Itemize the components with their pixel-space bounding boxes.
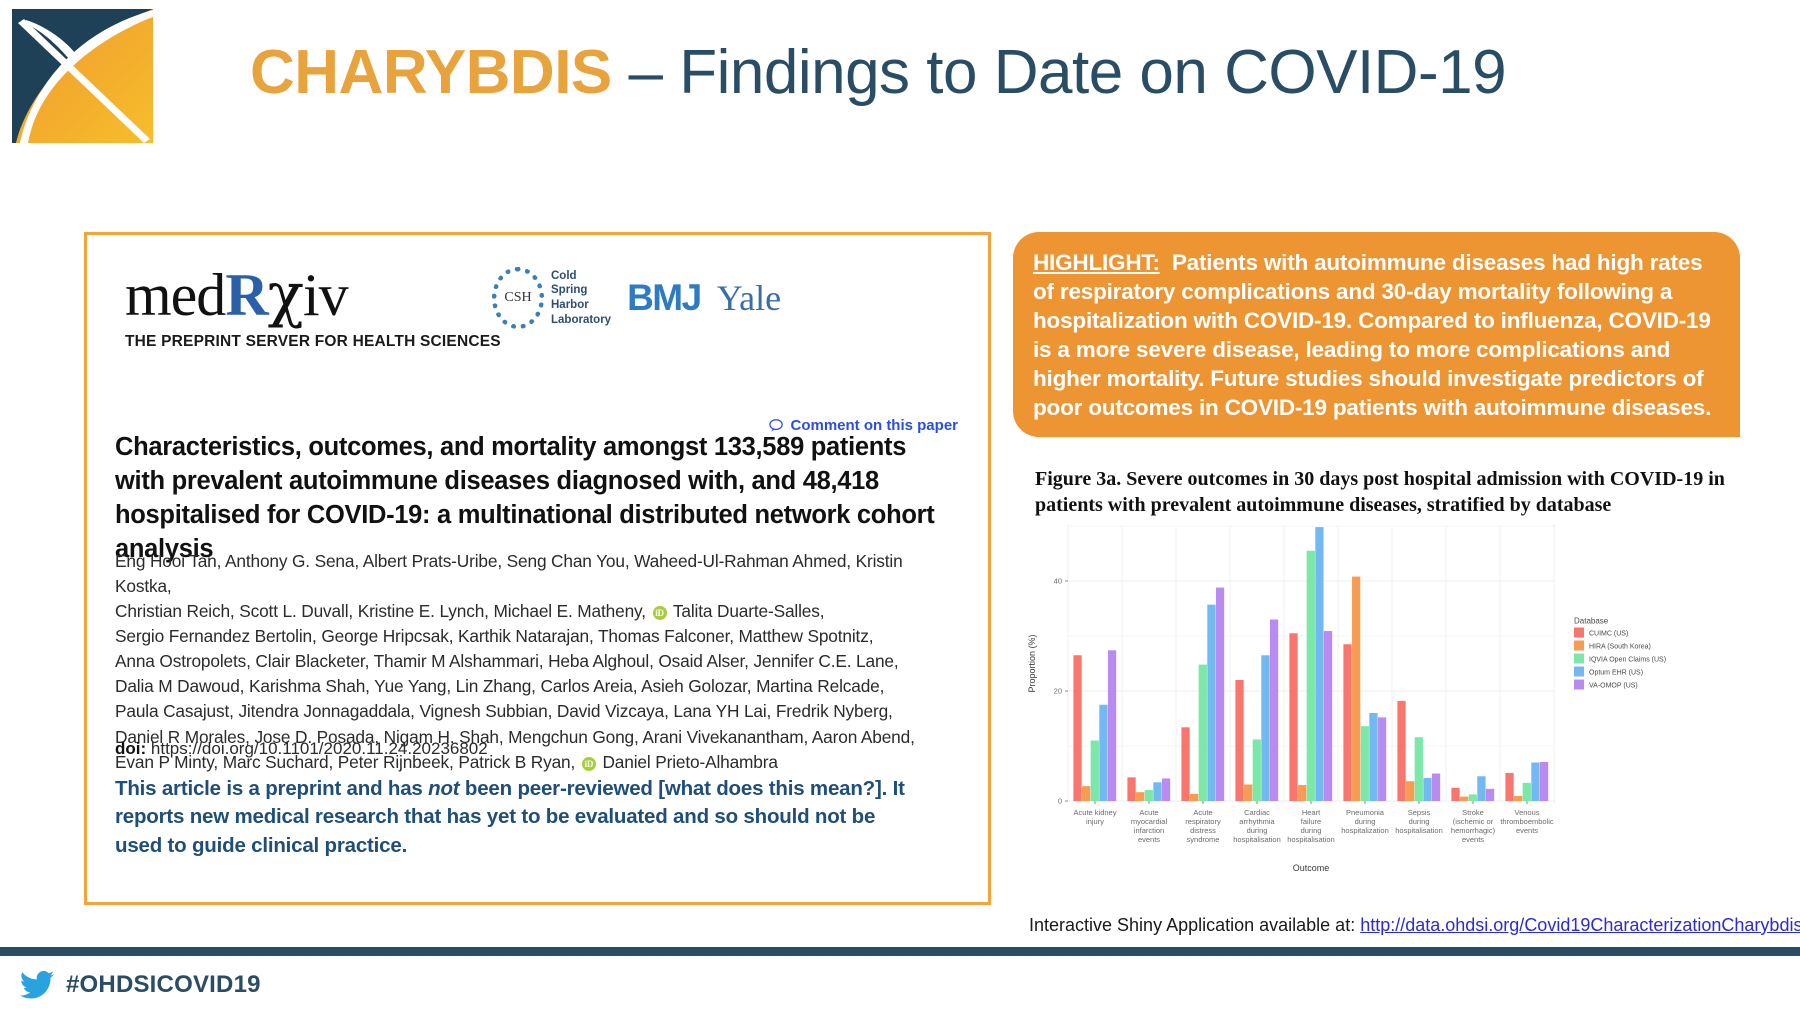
y-axis-title: Proportion (%): [1027, 634, 1037, 692]
author-line: Christian Reich, Scott L. Duvall, Kristi…: [115, 599, 960, 624]
bar: [1235, 680, 1243, 801]
x-axis-title: Outcome: [1293, 863, 1330, 873]
x-tick-label: Acutemyocardialinfarctionevents: [1131, 808, 1168, 844]
bar: [1289, 633, 1297, 801]
chart-legend: DatabaseCUIMC (US)HIRA (South Korea)IQVI…: [1574, 617, 1666, 690]
figure-caption: Figure 3a. Severe outcomes in 30 days po…: [1035, 466, 1735, 519]
bar: [1298, 785, 1306, 801]
y-tick-label: 20: [1054, 687, 1062, 696]
bar: [1477, 776, 1485, 801]
doi-label: doi:: [115, 739, 146, 758]
title-subtitle: – Findings to Date on COVID-19: [612, 38, 1506, 107]
legend-swatch: [1574, 654, 1584, 664]
bar: [1397, 701, 1405, 801]
shiny-app-line: Interactive Shiny Application available …: [1029, 915, 1800, 936]
bar: [1091, 741, 1099, 802]
medrxiv-iv: iv: [303, 262, 348, 328]
author-line: Eng Hooi Tan, Anthony G. Sena, Albert Pr…: [115, 549, 960, 599]
ohdsi-logo: [10, 7, 155, 145]
x-tick-label: Heartfailureduringhospitalisation: [1287, 808, 1335, 844]
bar: [1361, 726, 1369, 801]
y-tick-label: 40: [1054, 577, 1062, 586]
footer-hashtag: #OHDSICOVID19: [66, 971, 261, 999]
bar: [1531, 763, 1539, 802]
orcid-icon: iD: [582, 757, 596, 771]
bar: [1162, 778, 1170, 801]
bar: [1324, 631, 1332, 801]
shiny-prefix: Interactive Shiny Application available …: [1029, 915, 1360, 935]
bar: [1369, 713, 1377, 801]
bar: [1451, 788, 1459, 801]
legend-swatch: [1574, 680, 1584, 690]
bar: [1270, 620, 1278, 802]
bar: [1423, 778, 1431, 801]
footer-divider-bar: [0, 947, 1800, 956]
x-tick-label: Stroke(ischemic orhemorrhagic)events: [1451, 808, 1496, 844]
preprint-paper-card: medRχiv THE PREPRINT SERVER FOR HEALTH S…: [84, 232, 991, 905]
paper-title: Characteristics, outcomes, and mortality…: [115, 431, 955, 567]
bar: [1460, 797, 1468, 801]
highlight-text: Patients with autoimmune diseases had hi…: [1033, 250, 1711, 420]
bar: [1181, 727, 1189, 801]
bar: [1415, 737, 1423, 801]
doi-value: https://doi.org/10.1101/2020.11.24.20236…: [151, 739, 488, 758]
legend-swatch: [1574, 667, 1584, 677]
author-line: Sergio Fernandez Bertolin, George Hripcs…: [115, 624, 960, 649]
author-line: Paula Casajust, Jitendra Jonnagaddala, V…: [115, 699, 960, 724]
legend-label: CUIMC (US): [1589, 631, 1628, 638]
bar: [1073, 655, 1081, 801]
x-tick-label: Acute kidneyinjury: [1074, 808, 1117, 826]
bar: [1315, 527, 1323, 801]
bar: [1307, 551, 1315, 801]
legend-swatch: [1574, 628, 1584, 638]
doi-line: doi: https://doi.org/10.1101/2020.11.24.…: [115, 739, 488, 759]
shiny-app-link[interactable]: http://data.ohdsi.org/Covid19Characteriz…: [1360, 915, 1800, 935]
x-tick-label: Sepsisduringhospitalisation: [1395, 808, 1443, 835]
page-title: CHARYBDIS – Findings to Date on COVID-19: [250, 40, 1506, 105]
bar: [1352, 577, 1360, 801]
medrxiv-tagline: THE PREPRINT SERVER FOR HEALTH SCIENCES: [125, 333, 501, 351]
medrxiv-R: R: [225, 262, 267, 328]
legend-swatch: [1574, 641, 1584, 651]
grouped-bar-chart: 02040Proportion (%) Acute kidneyinjuryAc…: [1022, 518, 1722, 883]
bar: [1099, 705, 1107, 801]
publisher-logos: CSH ColdSpringHarborLaboratory BMJ Yale: [492, 267, 781, 329]
y-axis: 02040Proportion (%): [1027, 577, 1068, 806]
csh-fullname: ColdSpringHarborLaboratory: [551, 269, 611, 328]
orcid-icon: iD: [653, 606, 667, 620]
author-line: Anna Ostropolets, Clair Blacketer, Thami…: [115, 649, 960, 674]
twitter-icon: [20, 971, 54, 999]
bar: [1432, 774, 1440, 802]
preprint-emphasis: not: [428, 777, 459, 800]
bar: [1199, 665, 1207, 801]
bar: [1216, 588, 1224, 801]
bar: [1136, 792, 1144, 801]
medrxiv-wordmark: medRχiv: [125, 265, 501, 325]
figure-3a-chart: 02040Proportion (%) Acute kidneyinjuryAc…: [1022, 518, 1722, 883]
bar: [1145, 790, 1153, 801]
bar: [1244, 785, 1252, 802]
footer: #OHDSICOVID19: [0, 956, 1800, 1013]
x-tick-label: Cardiacarrhythmiaduringhospitalisation: [1233, 808, 1281, 844]
bar: [1469, 794, 1477, 801]
bar: [1406, 781, 1414, 801]
x-tick-label: Acuterespiratorydistresssyndrome: [1185, 808, 1221, 844]
x-axis: Acute kidneyinjuryAcutemyocardialinfarct…: [1074, 801, 1554, 873]
medrxiv-logo: medRχiv THE PREPRINT SERVER FOR HEALTH S…: [125, 265, 501, 351]
legend-label: IQVIA Open Claims (US): [1589, 657, 1666, 664]
highlight-callout: HIGHLIGHT: Patients with autoimmune dise…: [1013, 232, 1740, 437]
bar: [1190, 794, 1198, 801]
legend-label: HIRA (South Korea): [1589, 644, 1651, 651]
bar: [1514, 796, 1522, 801]
bar: [1486, 789, 1494, 801]
medrxiv-med: med: [125, 262, 225, 328]
x-tick-label: Venousthromboembolicevents: [1500, 808, 1554, 835]
author-line: Dalia M Dawoud, Karishma Shah, Yue Yang,…: [115, 674, 960, 699]
cold-spring-harbor-logo: CSH ColdSpringHarborLaboratory: [492, 267, 611, 329]
bmj-logo: BMJ: [627, 277, 701, 319]
bar: [1153, 782, 1161, 801]
highlight-label: HIGHLIGHT:: [1033, 250, 1160, 275]
bar: [1261, 655, 1269, 801]
bar: [1108, 650, 1116, 801]
bar: [1253, 739, 1261, 801]
title-charybdis: CHARYBDIS: [250, 38, 612, 107]
bar: [1378, 717, 1386, 801]
csh-abbr: CSH: [492, 267, 544, 329]
bar: [1523, 783, 1531, 801]
legend-title: Database: [1574, 617, 1609, 626]
legend-label: VA-OMOP (US): [1589, 683, 1638, 690]
bar: [1207, 605, 1215, 801]
y-tick-label: 0: [1058, 797, 1062, 806]
bar: [1082, 786, 1090, 801]
legend-label: Optum EHR (US): [1589, 670, 1643, 677]
bar: [1505, 773, 1513, 801]
yale-logo: Yale: [717, 277, 781, 319]
x-tick-label: Pneumoniaduringhospitalization: [1341, 808, 1389, 835]
bar: [1343, 644, 1351, 801]
bar: [1540, 762, 1548, 801]
bar: [1127, 777, 1135, 801]
slide-root: CHARYBDIS – Findings to Date on COVID-19…: [0, 0, 1800, 1013]
medrxiv-chi: χ: [268, 260, 303, 330]
preprint-notice: This article is a preprint and has not b…: [115, 775, 905, 860]
